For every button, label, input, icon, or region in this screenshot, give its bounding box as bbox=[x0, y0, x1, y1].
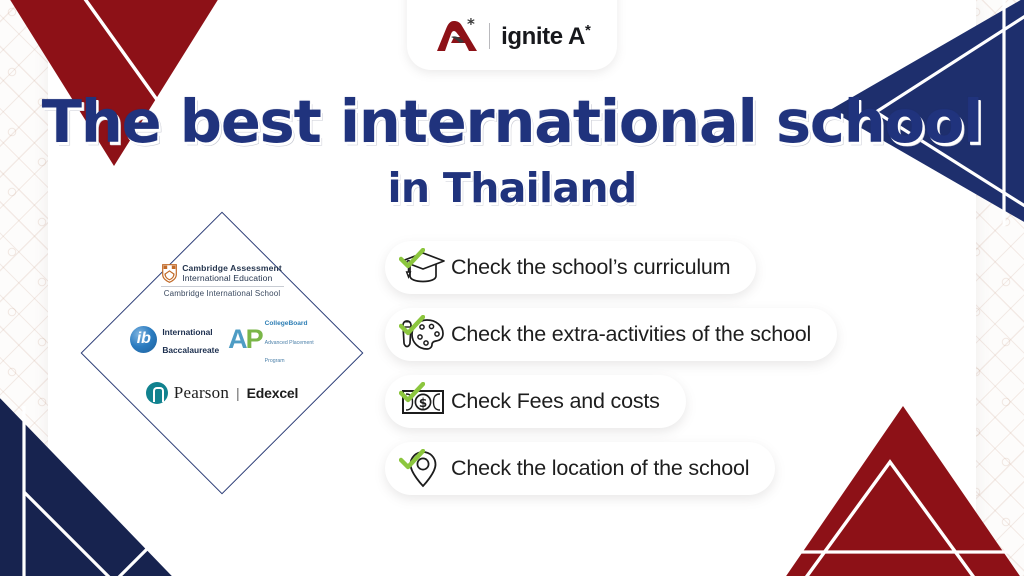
green-check-icon bbox=[399, 315, 425, 337]
checklist-item-location[interactable]: Check the location of the school bbox=[385, 442, 775, 495]
palette-icon bbox=[397, 315, 449, 355]
checklist-item-extra-activities[interactable]: Check the extra-activities of the school bbox=[385, 308, 837, 361]
accreditation-logos: Cambridge Assessment International Educa… bbox=[113, 258, 331, 448]
graduation-cap-icon bbox=[397, 248, 449, 288]
ignite-a-star-logo-icon: * bbox=[434, 18, 478, 54]
page-subtitle: in Thailand bbox=[0, 164, 1024, 212]
logo-divider bbox=[489, 23, 491, 49]
brand-name: ignite A* bbox=[501, 22, 590, 51]
checklist-item-curriculum[interactable]: Check the school’s curriculum bbox=[385, 241, 756, 294]
ap-letter-a: A bbox=[228, 324, 246, 354]
infographic-canvas: * ignite A* The best international schoo… bbox=[0, 0, 1024, 576]
ap-monogram-icon: AP bbox=[228, 326, 262, 353]
banknote-icon: $ bbox=[397, 382, 449, 422]
brand-logo-pill: * ignite A* bbox=[407, 0, 617, 70]
green-check-icon bbox=[399, 382, 425, 404]
edexcel-name: Edexcel bbox=[247, 385, 299, 401]
pearson-edexcel-logo: Pearson | Edexcel bbox=[146, 382, 298, 404]
brand-name-star: * bbox=[585, 22, 590, 39]
ib-monogram-icon: ib bbox=[130, 326, 157, 353]
checklist: Check the school’s curriculum bbox=[385, 241, 837, 495]
cambridge-logo: Cambridge Assessment International Educa… bbox=[161, 264, 284, 298]
green-check-icon bbox=[399, 449, 425, 471]
collegeboard-name: CollegeBoard bbox=[265, 320, 308, 327]
ib-line-1: International bbox=[162, 327, 212, 337]
checklist-item-label: Check the location of the school bbox=[451, 456, 749, 481]
green-check-icon bbox=[399, 248, 425, 270]
checklist-item-label: Check Fees and costs bbox=[451, 389, 660, 414]
map-pin-icon bbox=[397, 449, 449, 489]
pearson-separator: | bbox=[236, 385, 240, 401]
ap-letter-p: P bbox=[246, 324, 262, 354]
page-title-block: The best international school in Thailan… bbox=[0, 92, 1024, 212]
svg-text:*: * bbox=[467, 18, 475, 33]
cambridge-line-3: Cambridge International School bbox=[164, 289, 281, 298]
collegeboard-line-3: Program bbox=[265, 358, 285, 364]
page-title: The best international school bbox=[0, 92, 1024, 152]
brand-name-text: ignite A bbox=[501, 23, 585, 50]
checklist-item-fees[interactable]: $ Check Fees and costs bbox=[385, 375, 686, 428]
cambridge-divider bbox=[161, 286, 284, 287]
cambridge-line-2: International Education bbox=[182, 274, 282, 284]
pearson-name: Pearson bbox=[174, 383, 229, 403]
cambridge-shield-icon bbox=[162, 264, 177, 283]
ib-line-2: Baccalaureate bbox=[162, 345, 219, 355]
ib-logo: ib International Baccalaureate bbox=[130, 322, 219, 357]
checklist-item-label: Check the school’s curriculum bbox=[451, 255, 730, 280]
collegeboard-line-2: Advanced Placement bbox=[265, 340, 314, 346]
checklist-item-label: Check the extra-activities of the school bbox=[451, 322, 811, 347]
ap-collegeboard-logo: AP CollegeBoard Advanced Placement Progr… bbox=[228, 312, 314, 367]
pearson-p-icon bbox=[146, 382, 168, 404]
